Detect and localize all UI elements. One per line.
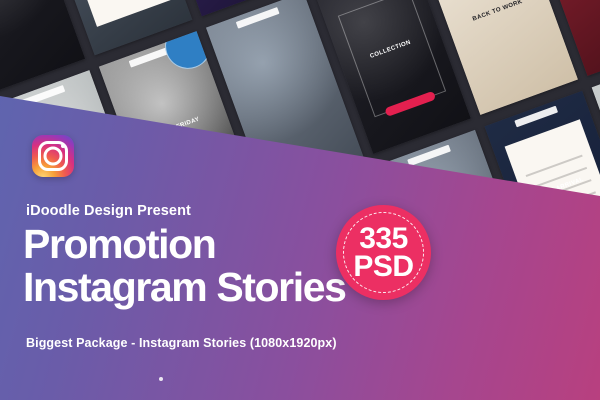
instagram-dot-shape bbox=[61, 144, 65, 148]
eyebrow-text: iDoodle Design Present bbox=[26, 203, 191, 219]
badge-count: 335 bbox=[359, 225, 408, 253]
instagram-logo-icon bbox=[32, 135, 74, 177]
badge-format: PSD bbox=[353, 253, 413, 281]
headline-line-1: Promotion bbox=[23, 224, 215, 265]
badge-text-group: 335 PSD bbox=[336, 205, 431, 300]
decorative-dot bbox=[159, 377, 163, 381]
poster-content: iDoodle Design Present Promotion Instagr… bbox=[0, 0, 600, 400]
subline-text: Biggest Package - Instagram Stories (108… bbox=[26, 336, 337, 350]
psd-count-badge: 335 PSD bbox=[336, 205, 431, 300]
instagram-lens-shape bbox=[44, 147, 63, 166]
promo-poster: LOOK BOOKSALELate NightNEW DROP50% OFFCO… bbox=[0, 0, 600, 400]
headline-line-2: Instagram Stories bbox=[23, 267, 346, 308]
